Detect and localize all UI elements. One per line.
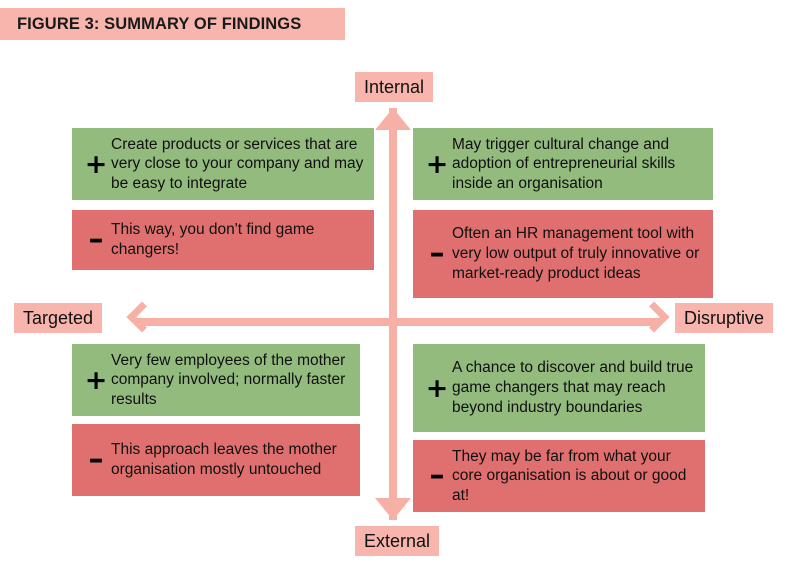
axis-label-targeted: Targeted <box>14 303 102 333</box>
plus-icon: + <box>422 375 452 402</box>
minus-icon: – <box>81 225 111 255</box>
quadrant-bottom-left-negative: – This approach leaves the mother organi… <box>72 424 360 496</box>
axis-label-internal: Internal <box>355 72 433 102</box>
arrow-up-icon <box>375 108 411 130</box>
quadrant-top-left-positive-text: Create products or services that are ver… <box>111 135 364 194</box>
figure-title-banner: FIGURE 3: SUMMARY OF FINDINGS <box>0 8 345 40</box>
arrow-right-icon <box>638 301 669 332</box>
quadrant-top-left-negative-text: This way, you don't find game changers! <box>111 220 364 259</box>
quadrant-top-left-positive: + Create products or services that are v… <box>72 128 374 200</box>
quadrant-top-right-positive-text: May trigger cultural change and adoption… <box>452 135 703 194</box>
plus-icon: + <box>81 151 111 178</box>
quadrant-top-left-negative: – This way, you don't find game changers… <box>72 210 374 270</box>
axis-label-disruptive: Disruptive <box>675 303 773 333</box>
vertical-axis-line <box>389 108 397 520</box>
quadrant-bottom-right-negative-text: They may be far from what your core orga… <box>452 447 695 506</box>
axis-label-external: External <box>355 526 439 556</box>
figure-summary-of-findings: FIGURE 3: SUMMARY OF FINDINGS Internal E… <box>0 0 800 574</box>
quadrant-bottom-left-negative-text: This approach leaves the mother organisa… <box>111 440 350 479</box>
horizontal-axis-line <box>135 318 660 326</box>
arrow-down-icon <box>375 498 411 520</box>
quadrant-bottom-right-positive: + A chance to discover and build true ga… <box>413 344 705 432</box>
arrow-left-icon <box>126 301 157 332</box>
minus-icon: – <box>422 461 452 491</box>
quadrant-top-right-positive: + May trigger cultural change and adopti… <box>413 128 713 200</box>
quadrant-top-right-negative: – Often an HR management tool with very … <box>413 210 713 298</box>
quadrant-bottom-right-positive-text: A chance to discover and build true game… <box>452 358 695 417</box>
quadrant-bottom-left-positive-text: Very few employees of the mother company… <box>111 351 350 410</box>
plus-icon: + <box>81 367 111 394</box>
minus-icon: – <box>81 445 111 475</box>
quadrant-bottom-right-negative: – They may be far from what your core or… <box>413 440 705 512</box>
figure-title: FIGURE 3: SUMMARY OF FINDINGS <box>17 15 301 34</box>
quadrant-bottom-left-positive: + Very few employees of the mother compa… <box>72 344 360 416</box>
minus-icon: – <box>422 239 452 269</box>
quadrant-top-right-negative-text: Often an HR management tool with very lo… <box>452 224 703 283</box>
plus-icon: + <box>422 151 452 178</box>
